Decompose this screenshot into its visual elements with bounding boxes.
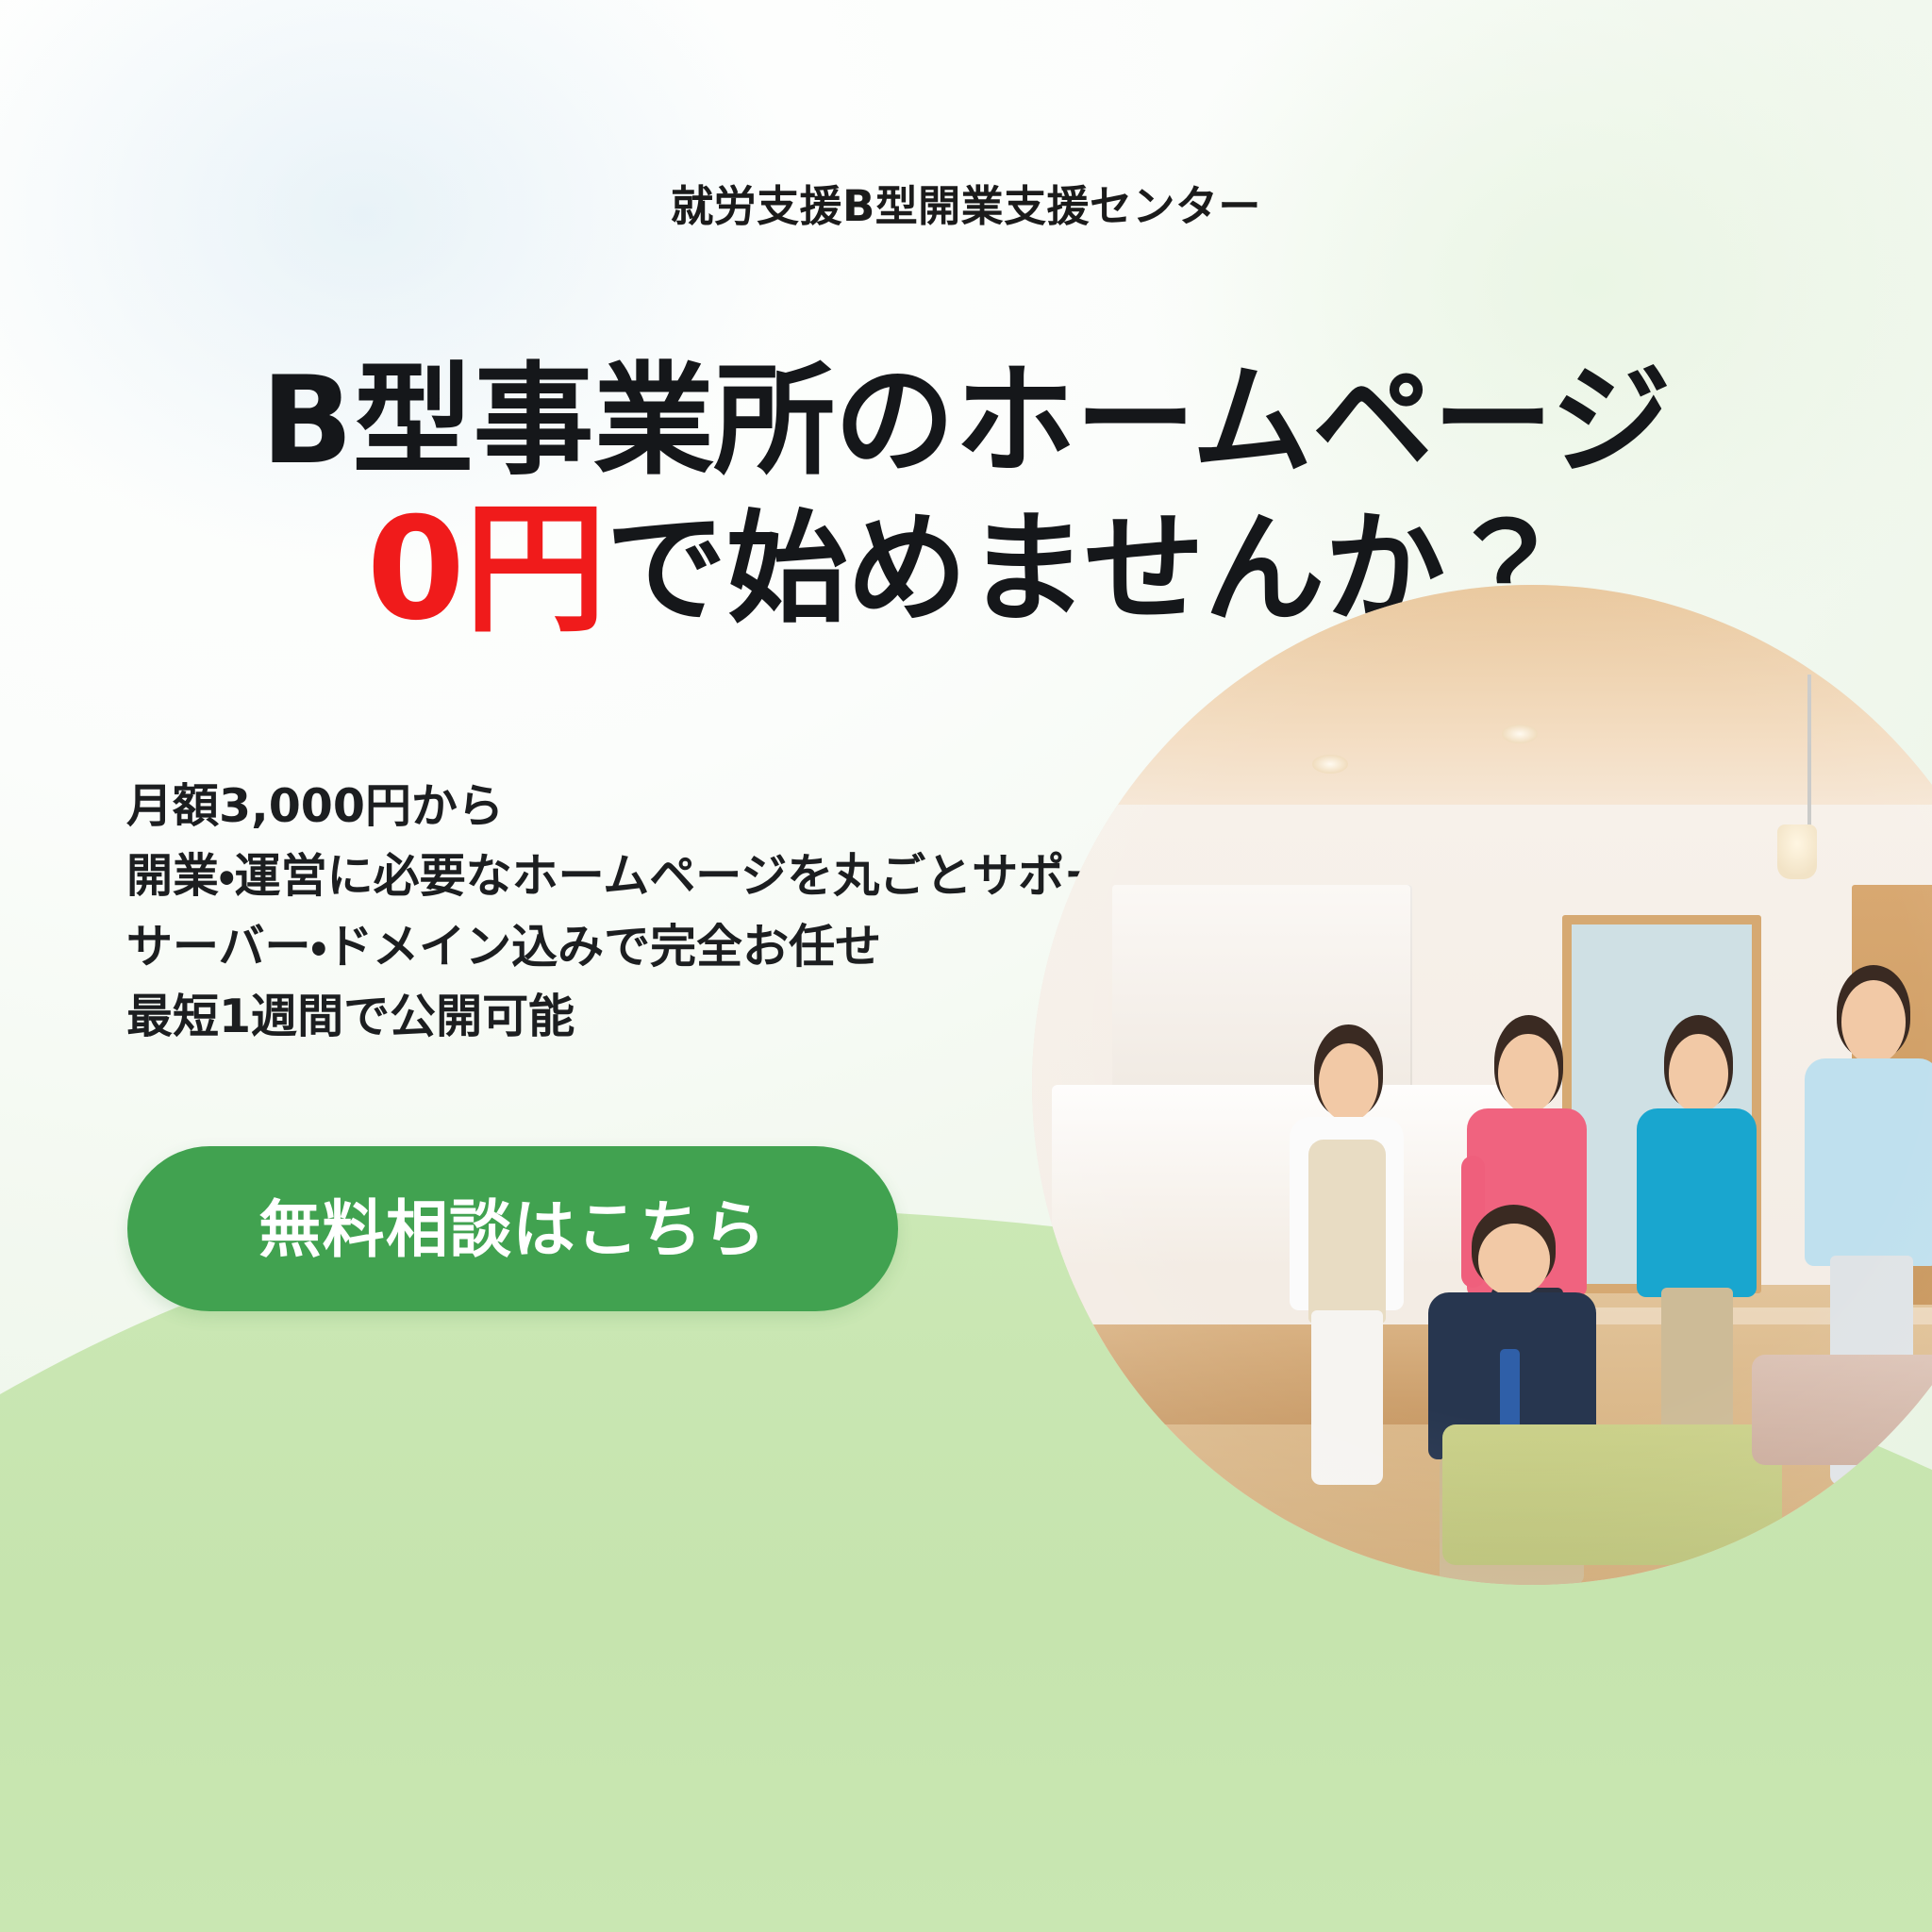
- price-highlight: 0円: [367, 507, 607, 634]
- free-consultation-button[interactable]: 無料相談はこちら: [127, 1146, 898, 1311]
- staff-photo: [1032, 585, 1932, 1585]
- hero-banner: 就労支援B型開業支援センター B型事業所のホームページ 0円で始めませんか？ 月…: [0, 0, 1932, 1932]
- free-consultation-button-label: 無料相談はこちら: [258, 1198, 767, 1260]
- photo-vignette: [1032, 585, 1932, 1585]
- staff-photo-scene: [1032, 585, 1932, 1585]
- brand-eyebrow: 就労支援B型開業支援センター: [0, 172, 1932, 233]
- headline-line-1: B型事業所のホームページ: [0, 352, 1932, 491]
